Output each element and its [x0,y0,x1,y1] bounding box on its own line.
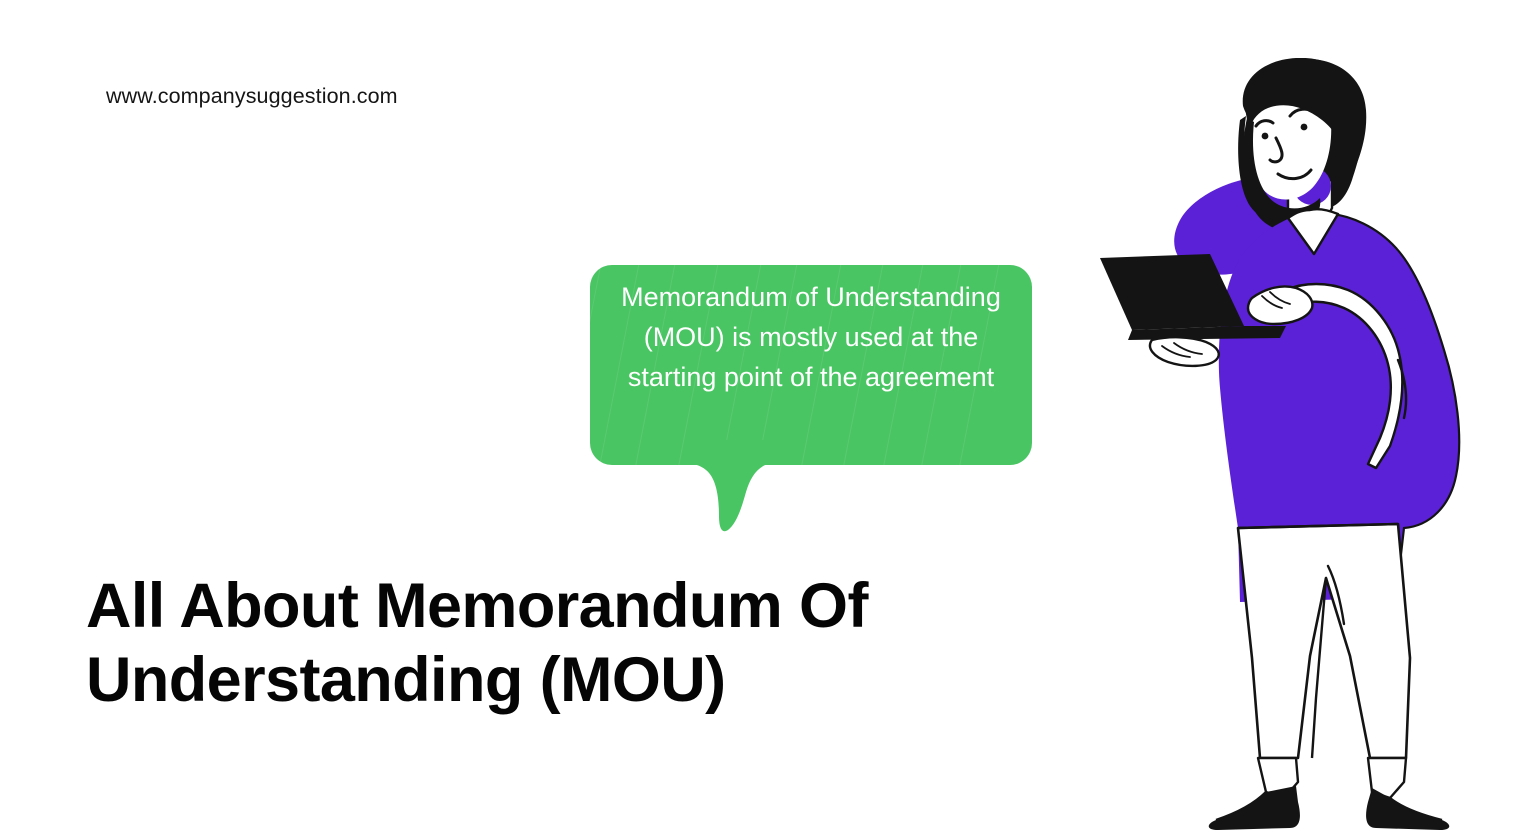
woman-with-laptop-illustration [1100,58,1480,838]
left-hand-shape [1150,337,1219,366]
left-shoe-shape [1209,758,1300,830]
right-shoe-shape [1366,758,1449,830]
speech-bubble: Memorandum of Understanding (MOU) is mos… [590,265,1032,465]
speech-bubble-tail-icon [690,440,780,535]
speech-bubble-text: Memorandum of Understanding (MOU) is mos… [616,277,1006,397]
page-title: All About Memorandum Of Understanding (M… [86,569,1046,717]
trousers-shape [1238,524,1410,758]
poster-canvas: www.companysuggestion.com Memorandum of … [0,0,1536,838]
site-url-text: www.companysuggestion.com [106,84,398,109]
